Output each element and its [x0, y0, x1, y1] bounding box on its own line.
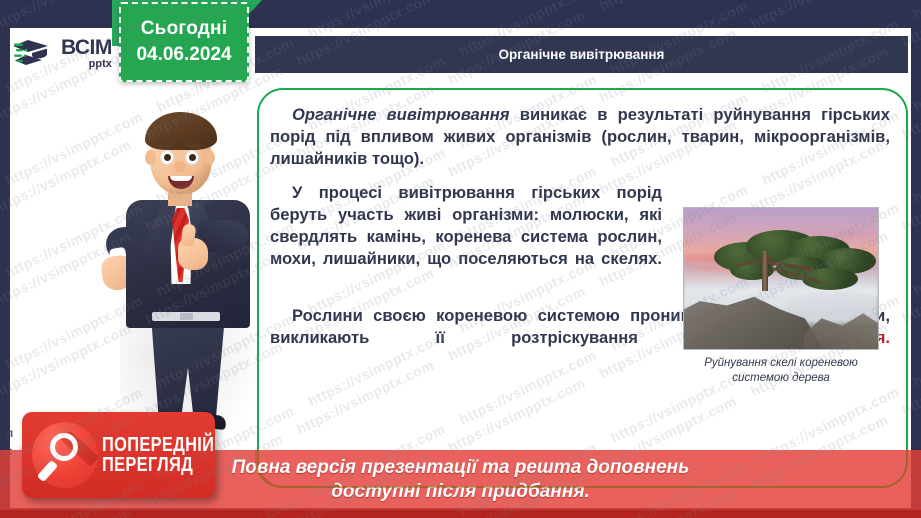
paragraph-2: У процесі вивітрювання гірських порід бе…: [270, 182, 662, 292]
slide-canvas: ВСІМ pptx Сьогодні 04.06.2024 Органічне …: [0, 0, 921, 518]
logo-subtitle: pptx: [61, 59, 112, 70]
bottom-red-strip: [0, 510, 921, 518]
preview-badge[interactable]: ПОПЕРЕДНІЙ ПЕРЕГЛЯД: [22, 412, 215, 498]
preview-badge-line-2: ПЕРЕГЛЯД: [102, 455, 214, 475]
page-title: Органічне вивітрювання: [499, 47, 665, 62]
preview-badge-line-1: ПОПЕРЕДНІЙ: [102, 435, 214, 455]
banner-line-1: Повна версія презентації та решта доповн…: [232, 456, 690, 480]
paragraph-1-term: Органічне вивітрювання: [292, 105, 510, 124]
pine-tree-on-rocky-cliff-photo: [683, 207, 879, 350]
magnifier-icon: [32, 422, 98, 488]
brand-logo[interactable]: ВСІМ pptx: [14, 30, 126, 76]
banner-line-2: доступні після придбання.: [232, 480, 690, 504]
photo-caption: Руйнування скелі кореневою системою дере…: [683, 356, 879, 386]
paragraph-1: Органічне вивітрювання виникає в результ…: [270, 104, 890, 170]
businessman-thumbs-up-illustration: [112, 98, 274, 428]
illustration-figure: Руйнування скелі кореневою системою дере…: [683, 207, 879, 386]
preview-badge-text: ПОПЕРЕДНІЙ ПЕРЕГЛЯД: [102, 435, 214, 476]
logo-title: ВСІМ: [61, 37, 112, 58]
date-badge-label: Сьогодні: [141, 18, 227, 40]
graduation-cap-icon: [14, 36, 56, 70]
slide-title-bar: Органічне вивітрювання: [255, 36, 908, 73]
date-badge-value: 04.06.2024: [136, 44, 231, 66]
today-date-badge: Сьогодні 04.06.2024: [119, 2, 249, 82]
logo-wordmark: ВСІМ pptx: [61, 37, 112, 70]
